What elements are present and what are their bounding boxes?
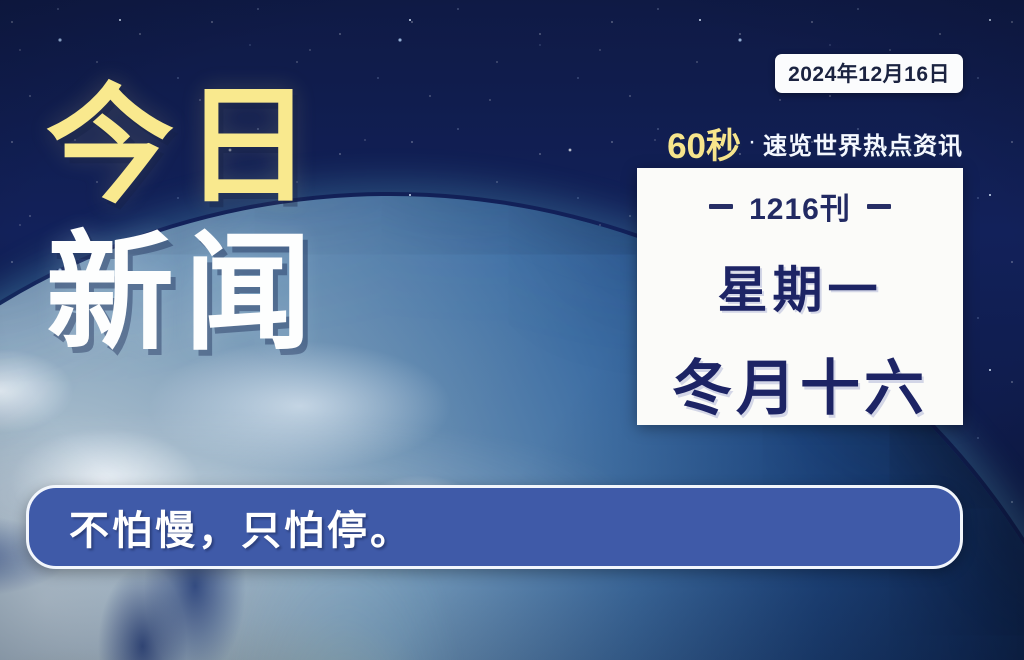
date-badge: 2024年12月16日 [775, 54, 963, 93]
news-poster: 今日 新闻 2024年12月16日 60秒 · 速览世界热点资讯 1216刊 星… [0, 0, 1024, 660]
page-title: 今日 新闻 [46, 84, 322, 357]
issue-number: 1216刊 [749, 184, 851, 228]
weekday-label: 星期一 [718, 250, 883, 322]
headline-line-1: 今日 [46, 84, 322, 209]
dash-left-icon [709, 204, 733, 209]
tagline-text: 速览世界热点资讯 [763, 126, 963, 161]
tagline-separator-icon: · [748, 130, 756, 154]
date-info-card: 1216刊 星期一 冬月十六 [637, 168, 963, 425]
tagline-seconds: 60秒 [667, 118, 741, 169]
quote-banner: 不怕慢，只怕停。 [26, 485, 963, 569]
lunar-date-label: 冬月十六 [672, 340, 928, 427]
tagline: 60秒 · 速览世界热点资讯 [667, 118, 963, 169]
issue-row: 1216刊 [709, 184, 891, 228]
quote-text: 不怕慢，只怕停。 [69, 498, 413, 556]
headline-line-2: 新闻 [46, 231, 322, 356]
dash-right-icon [867, 204, 891, 209]
